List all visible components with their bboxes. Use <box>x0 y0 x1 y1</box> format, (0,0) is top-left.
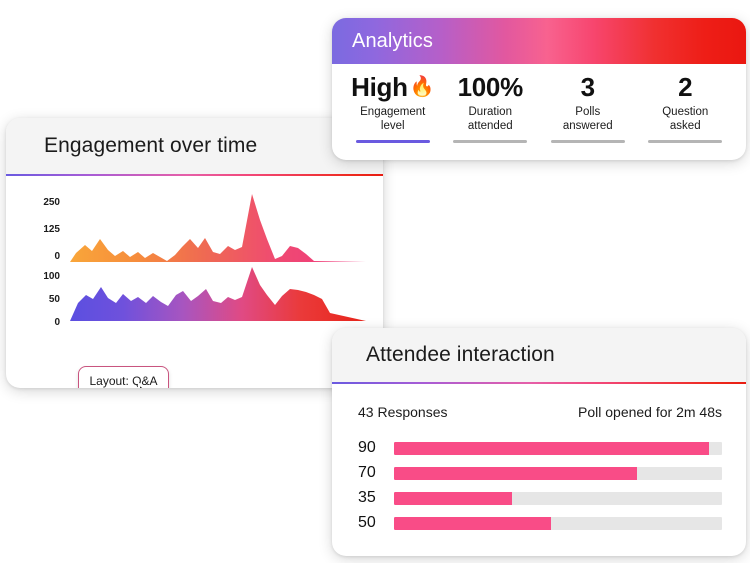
stat-value-text: 3 <box>581 74 595 101</box>
engagement-over-time-card: Engagement over time 250 125 0 <box>6 118 383 388</box>
stat-label-line2: attended <box>468 119 513 133</box>
analytics-card: Analytics High 🔥 Engagement level 100% <box>332 18 746 160</box>
attendee-card-header: Attendee interaction <box>332 328 746 382</box>
poll-bar-track <box>394 492 722 505</box>
poll-bar-fill <box>394 517 551 530</box>
engagement-chart-bottom-axis: 100 50 0 <box>34 272 60 328</box>
stat-underline <box>356 140 430 143</box>
stat-question-asked[interactable]: 2 Question asked <box>637 74 735 143</box>
poll-timer: Poll opened for 2m 48s <box>578 404 722 420</box>
stat-engagement-level-label: Engagement level <box>360 105 425 133</box>
poll-bar-row[interactable]: 90 <box>358 440 722 456</box>
poll-bar-label: 35 <box>358 490 384 506</box>
stat-label-line1: Engagement <box>360 105 425 119</box>
stat-label-line2: asked <box>662 119 708 133</box>
engagement-sparkline-bottom[interactable] <box>70 265 366 323</box>
poll-bar-fill <box>394 467 637 480</box>
stat-question-asked-value: 2 <box>678 74 692 101</box>
stat-duration-attended-value: 100% <box>458 74 523 101</box>
analytics-card-header: Analytics <box>332 18 746 64</box>
stat-label-line1: Duration <box>468 105 513 119</box>
stat-label-line2: level <box>360 119 425 133</box>
axis-tick: 125 <box>34 225 60 235</box>
stat-underline <box>551 140 625 143</box>
poll-bar-row[interactable]: 50 <box>358 515 722 531</box>
stat-value-text: 2 <box>678 74 692 101</box>
poll-bar-label: 50 <box>358 515 384 531</box>
stat-polls-answered[interactable]: 3 Polls answered <box>539 74 637 143</box>
app-root: Engagement over time 250 125 0 <box>0 0 750 563</box>
poll-bar-fill <box>394 442 709 455</box>
stat-underline <box>453 140 527 143</box>
poll-bar-track <box>394 517 722 530</box>
mouse-pointer-icon <box>136 383 166 388</box>
axis-tick: 0 <box>34 252 60 262</box>
poll-bar-track <box>394 467 722 480</box>
stat-question-asked-label: Question asked <box>662 105 708 133</box>
poll-body: 43 Responses Poll opened for 2m 48s 90 7… <box>332 384 746 531</box>
engagement-card-title: Engagement over time <box>44 134 257 158</box>
engagement-chart-body: 250 125 0 <box>6 176 383 388</box>
stat-label-line2: answered <box>563 119 613 133</box>
engagement-card-header: Engagement over time <box>6 118 383 174</box>
fire-icon: 🔥 <box>410 77 435 98</box>
stat-value-text: 100% <box>458 74 523 101</box>
engagement-chart-top-axis: 250 125 0 <box>34 198 60 262</box>
attendee-interaction-card: Attendee interaction 43 Responses Poll o… <box>332 328 746 556</box>
stat-polls-answered-label: Polls answered <box>563 105 613 133</box>
analytics-stats-row: High 🔥 Engagement level 100% Duration at… <box>332 64 746 160</box>
stat-polls-answered-value: 3 <box>581 74 595 101</box>
stat-label-line1: Polls <box>563 105 613 119</box>
axis-tick: 50 <box>34 295 60 305</box>
stat-duration-attended[interactable]: 100% Duration attended <box>442 74 540 143</box>
stat-value-text: High <box>351 74 408 101</box>
engagement-sparkline-top[interactable] <box>70 192 366 264</box>
axis-tick: 250 <box>34 198 60 208</box>
poll-bar-row[interactable]: 70 <box>358 465 722 481</box>
attendee-card-title: Attendee interaction <box>366 343 555 367</box>
poll-responses-count: 43 Responses <box>358 404 448 420</box>
poll-bar-track <box>394 442 722 455</box>
stat-engagement-level[interactable]: High 🔥 Engagement level <box>344 74 442 143</box>
poll-bar-label: 90 <box>358 440 384 456</box>
axis-tick: 100 <box>34 272 60 282</box>
stat-engagement-level-value: High 🔥 <box>351 74 434 101</box>
stat-underline <box>648 140 722 143</box>
poll-meta: 43 Responses Poll opened for 2m 48s <box>358 404 722 420</box>
stat-duration-attended-label: Duration attended <box>468 105 513 133</box>
poll-bar-fill <box>394 492 512 505</box>
axis-tick: 0 <box>34 318 60 328</box>
poll-bar-row[interactable]: 35 <box>358 490 722 506</box>
poll-bar-label: 70 <box>358 465 384 481</box>
analytics-card-title: Analytics <box>352 30 433 53</box>
poll-bar-list: 90 70 35 50 <box>358 440 722 531</box>
stat-label-line1: Question <box>662 105 708 119</box>
